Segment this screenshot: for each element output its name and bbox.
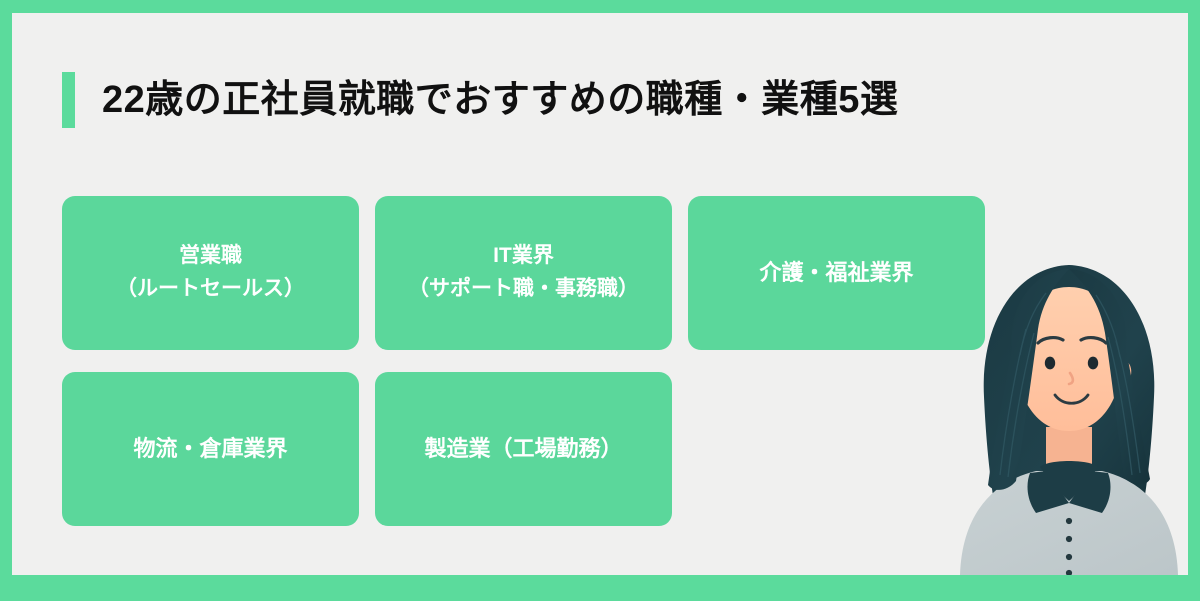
page-title-text: 22歳の正社員就職でおすすめの職種・業種5選 [102, 81, 898, 119]
woman-illustration [950, 245, 1188, 575]
card-row-top: 営業職 （ルートセールス） IT業界 （サポート職・事務職） 介護・福祉業界 [62, 196, 985, 350]
banner-inner-area: 22歳の正社員就職でおすすめの職種・業種5選 営業職 （ルートセールス） IT業… [12, 13, 1188, 575]
card-logistics-line1: 物流・倉庫業界 [133, 432, 287, 466]
card-it-line1: IT業界 [493, 240, 554, 273]
card-it-line2: （サポート職・事務職） [408, 273, 639, 306]
card-row-bottom: 物流・倉庫業界 製造業（工場勤務） [62, 372, 985, 526]
card-grid: 営業職 （ルートセールス） IT業界 （サポート職・事務職） 介護・福祉業界 物… [62, 196, 985, 548]
card-it[interactable]: IT業界 （サポート職・事務職） [375, 196, 672, 350]
card-logistics[interactable]: 物流・倉庫業界 [62, 372, 359, 526]
page-title: 22歳の正社員就職でおすすめの職種・業種5選 [62, 72, 898, 128]
card-care-line1: 介護・福祉業界 [759, 256, 913, 290]
card-sales[interactable]: 営業職 （ルートセールス） [62, 196, 359, 350]
card-manufacturing[interactable]: 製造業（工場勤務） [375, 372, 672, 526]
title-accent-bar [62, 72, 75, 128]
card-manufacturing-line1: 製造業（工場勤務） [424, 432, 622, 466]
card-sales-line1: 営業職 [179, 240, 242, 273]
banner-image: 22歳の正社員就職でおすすめの職種・業種5選 営業職 （ルートセールス） IT業… [0, 0, 1200, 601]
card-care[interactable]: 介護・福祉業界 [688, 196, 985, 350]
card-sales-line2: （ルートセールス） [116, 273, 305, 306]
eye-left [1045, 357, 1055, 370]
eye-right [1088, 357, 1098, 370]
